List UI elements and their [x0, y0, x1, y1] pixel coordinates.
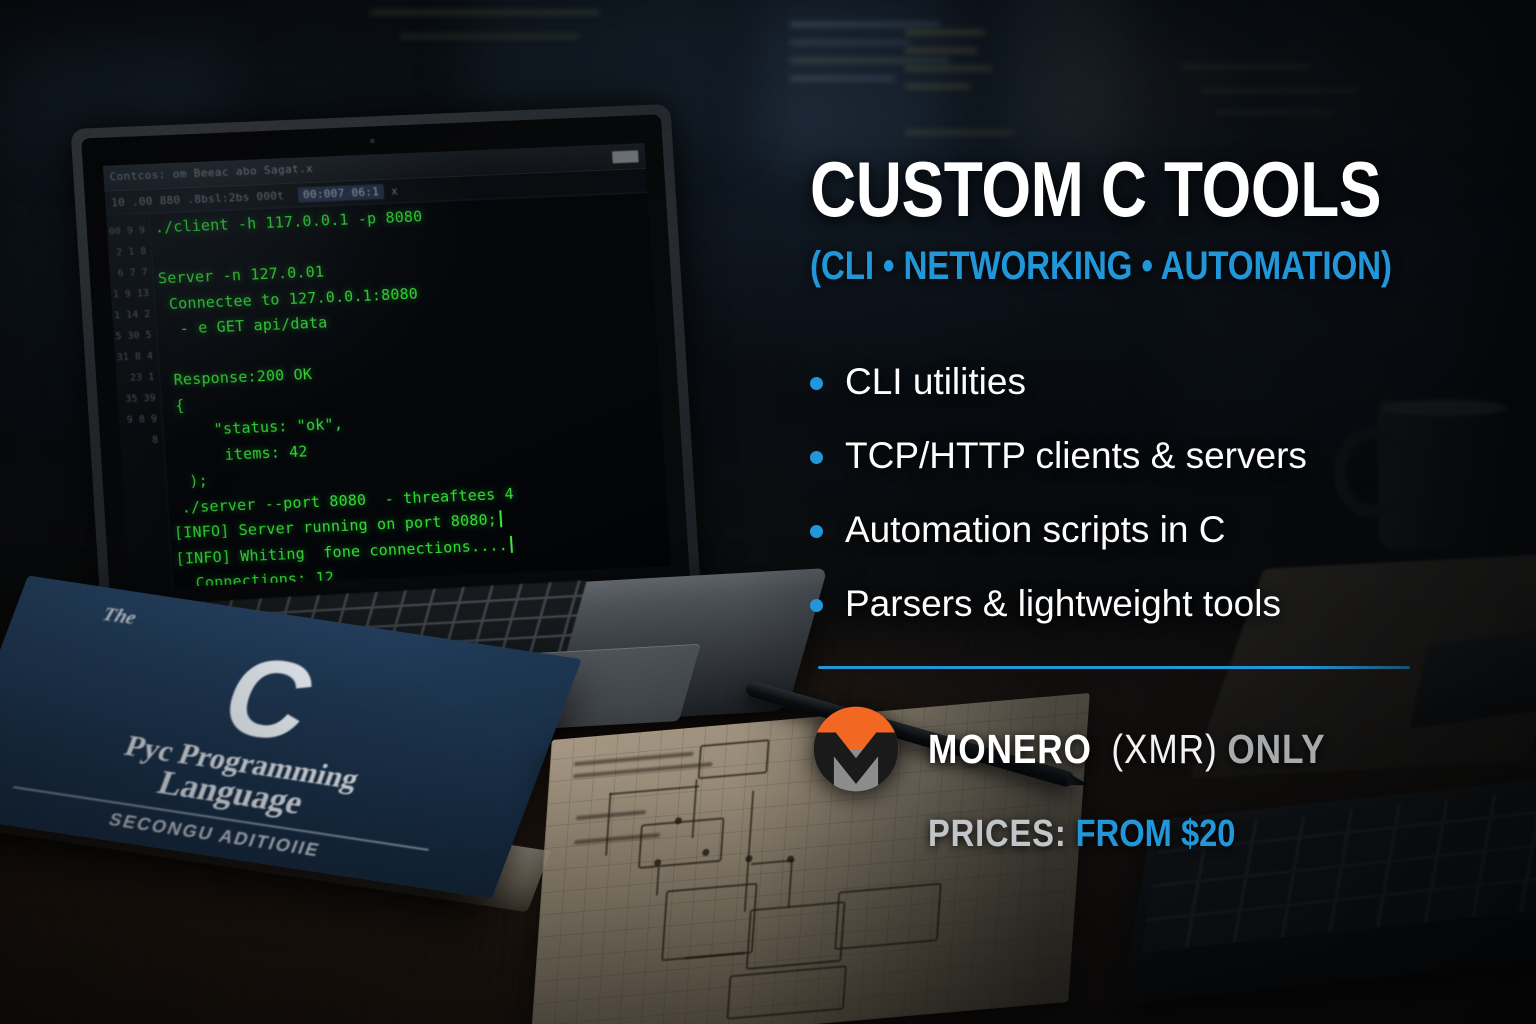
webcam-icon [370, 138, 375, 143]
sketch-box [746, 901, 846, 970]
monero-brand-label: MONERO [928, 726, 1092, 772]
background-code-streak [1200, 88, 1360, 93]
laptop-screen: Contcos: om Beeac abo Sagat.x 10 .00 880… [103, 143, 671, 589]
background-code-streak [1215, 110, 1335, 115]
background-code-streak [905, 84, 971, 89]
monero-only-label: ONLY [1227, 726, 1325, 772]
payment-line: MONERO (XMR) ONLY [928, 729, 1326, 770]
poster-canvas: Contcos: om Beeac abo Sagat.x 10 .00 880… [0, 0, 1536, 1024]
price-label: PRICES: [928, 813, 1067, 855]
page-subtitle: (CLI • NETWORKING • AUTOMATION) [810, 246, 1325, 286]
monero-logo-icon [810, 703, 902, 795]
list-item: TCP/HTTP clients & servers [810, 418, 1430, 492]
sketch-box [698, 739, 770, 779]
c-programming-book: The C Pyc Programming Language SECONGU A… [0, 612, 580, 942]
laptop-lid: Contcos: om Beeac abo Sagat.x 10 .00 880… [70, 104, 701, 628]
background-code-streak [905, 130, 1015, 135]
list-item: Automation scripts in C [810, 492, 1430, 566]
background-code-streak [400, 34, 580, 39]
list-item-label: Parsers & lightweight tools [845, 585, 1281, 622]
terminal-output: ./client -h 117.0.0.1 -p 8080 Server -n … [154, 195, 667, 585]
sketch-box [834, 883, 942, 951]
background-monitor-glow [1260, 10, 1490, 160]
bullet-dot-icon [810, 451, 823, 464]
list-item: CLI utilities [810, 344, 1430, 418]
list-item-label: Automation scripts in C [845, 511, 1225, 548]
payment-row: MONERO (XMR) ONLY [810, 703, 1430, 795]
price-value: FROM $20 [1076, 813, 1236, 855]
monero-ticker-label: (XMR) [1111, 726, 1217, 772]
sketch-box [638, 817, 725, 869]
bullet-dot-icon [810, 599, 823, 612]
list-item: Parsers & lightweight tools [810, 566, 1430, 640]
list-item-label: TCP/HTTP clients & servers [845, 437, 1307, 474]
window-controls[interactable] [612, 150, 639, 163]
background-code-streak [790, 76, 895, 81]
laptop-bezel: Contcos: om Beeac abo Sagat.x 10 .00 880… [81, 114, 691, 613]
price-line: PRICES: FROM $20 [928, 815, 1360, 853]
background-code-streak [790, 40, 910, 45]
page-title: CUSTOM C TOOLS [810, 150, 1318, 228]
background-code-streak [1180, 64, 1310, 69]
terminal-tab-close-icon[interactable]: x [391, 184, 399, 197]
terminal-tab-inactive[interactable]: 10 .00 880 .8bsl:2bs 000t [111, 189, 285, 209]
payment-text: MONERO (XMR) ONLY [928, 729, 1390, 770]
text-panel: CUSTOM C TOOLS (CLI • NETWORKING • AUTOM… [810, 150, 1430, 853]
feature-list: CLI utilities TCP/HTTP clients & servers… [810, 344, 1430, 640]
list-item-label: CLI utilities [845, 363, 1026, 400]
background-code-streak [905, 66, 993, 71]
background-code-streak [905, 30, 985, 35]
background-code-streak [790, 22, 940, 27]
background-code-streak [370, 10, 600, 15]
terminal-tab-active[interactable]: 00:007 06:1 [298, 184, 385, 203]
sketch-box [661, 883, 758, 962]
background-code-streak [905, 48, 977, 53]
terminal-window-title: Contcos: om Beeac abo Sagat.x [109, 162, 313, 184]
bullet-dot-icon [810, 525, 823, 538]
background-code-streak [790, 58, 950, 63]
bullet-dot-icon [810, 377, 823, 390]
section-divider [818, 666, 1410, 669]
